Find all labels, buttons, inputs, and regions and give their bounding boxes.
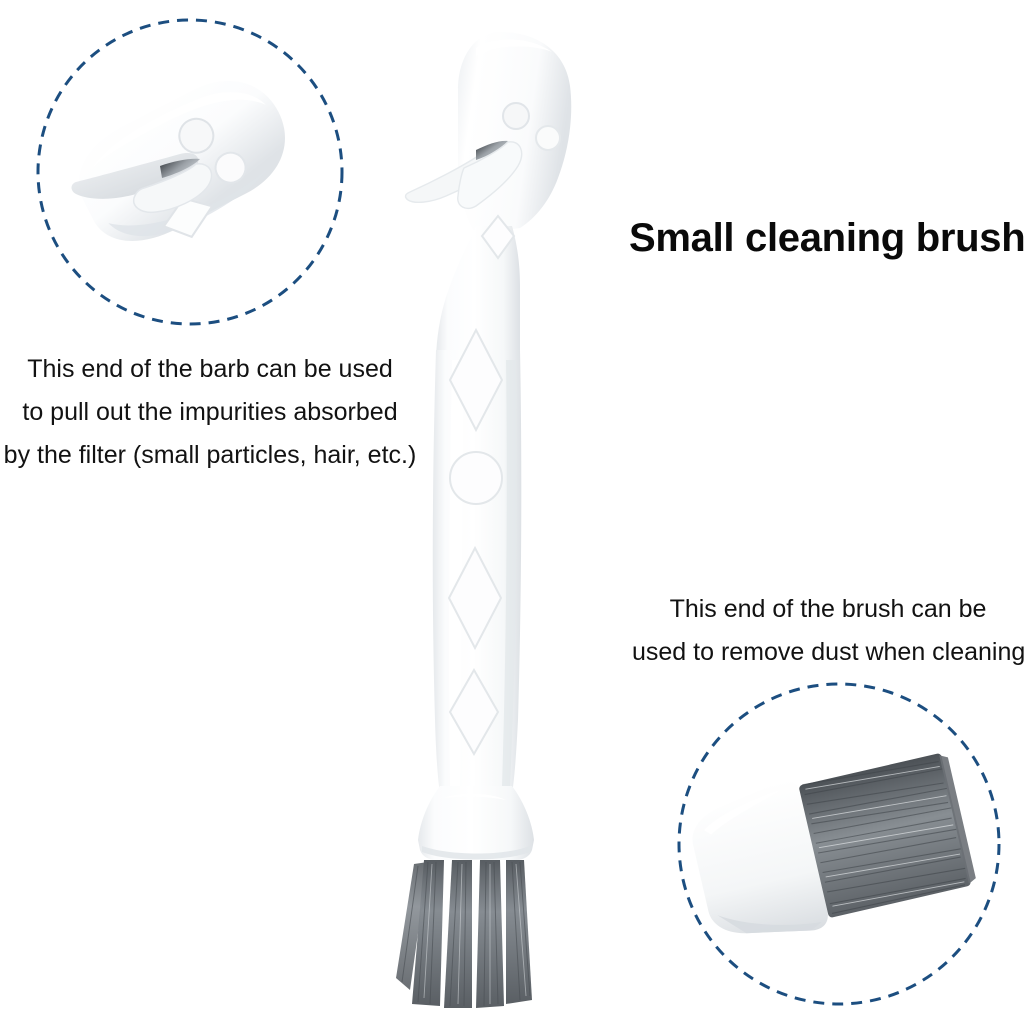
brush-head-closeup-image [690, 740, 990, 960]
infographic-canvas: Small cleaning brush This end of the bar… [0, 0, 1024, 1016]
caption-brush-line-1: This end of the brush can be [632, 588, 1024, 631]
caption-brush-end: This end of the brush can be used to rem… [632, 588, 1024, 674]
product-head-hole-2 [536, 126, 560, 150]
product-bristles [396, 860, 532, 1008]
product-head-hole-1 [503, 103, 529, 129]
page-title: Small cleaning brush [629, 216, 1024, 260]
product-head-group [406, 32, 572, 234]
product-brush-ferrule [418, 786, 534, 860]
bristle-tuft-2 [444, 860, 472, 1008]
caption-barb-end: This end of the barb can be used to pull… [0, 348, 420, 477]
caption-barb-line-3: by the filter (small particles, hair, et… [0, 434, 420, 477]
caption-barb-line-2: to pull out the impurities absorbed [0, 391, 420, 434]
barb-head-closeup-image [40, 60, 340, 310]
caption-barb-line-1: This end of the barb can be used [0, 348, 420, 391]
main-product-image [380, 20, 610, 1016]
cutout-circle [450, 452, 502, 504]
caption-brush-line-2: used to remove dust when cleaning [632, 631, 1024, 674]
